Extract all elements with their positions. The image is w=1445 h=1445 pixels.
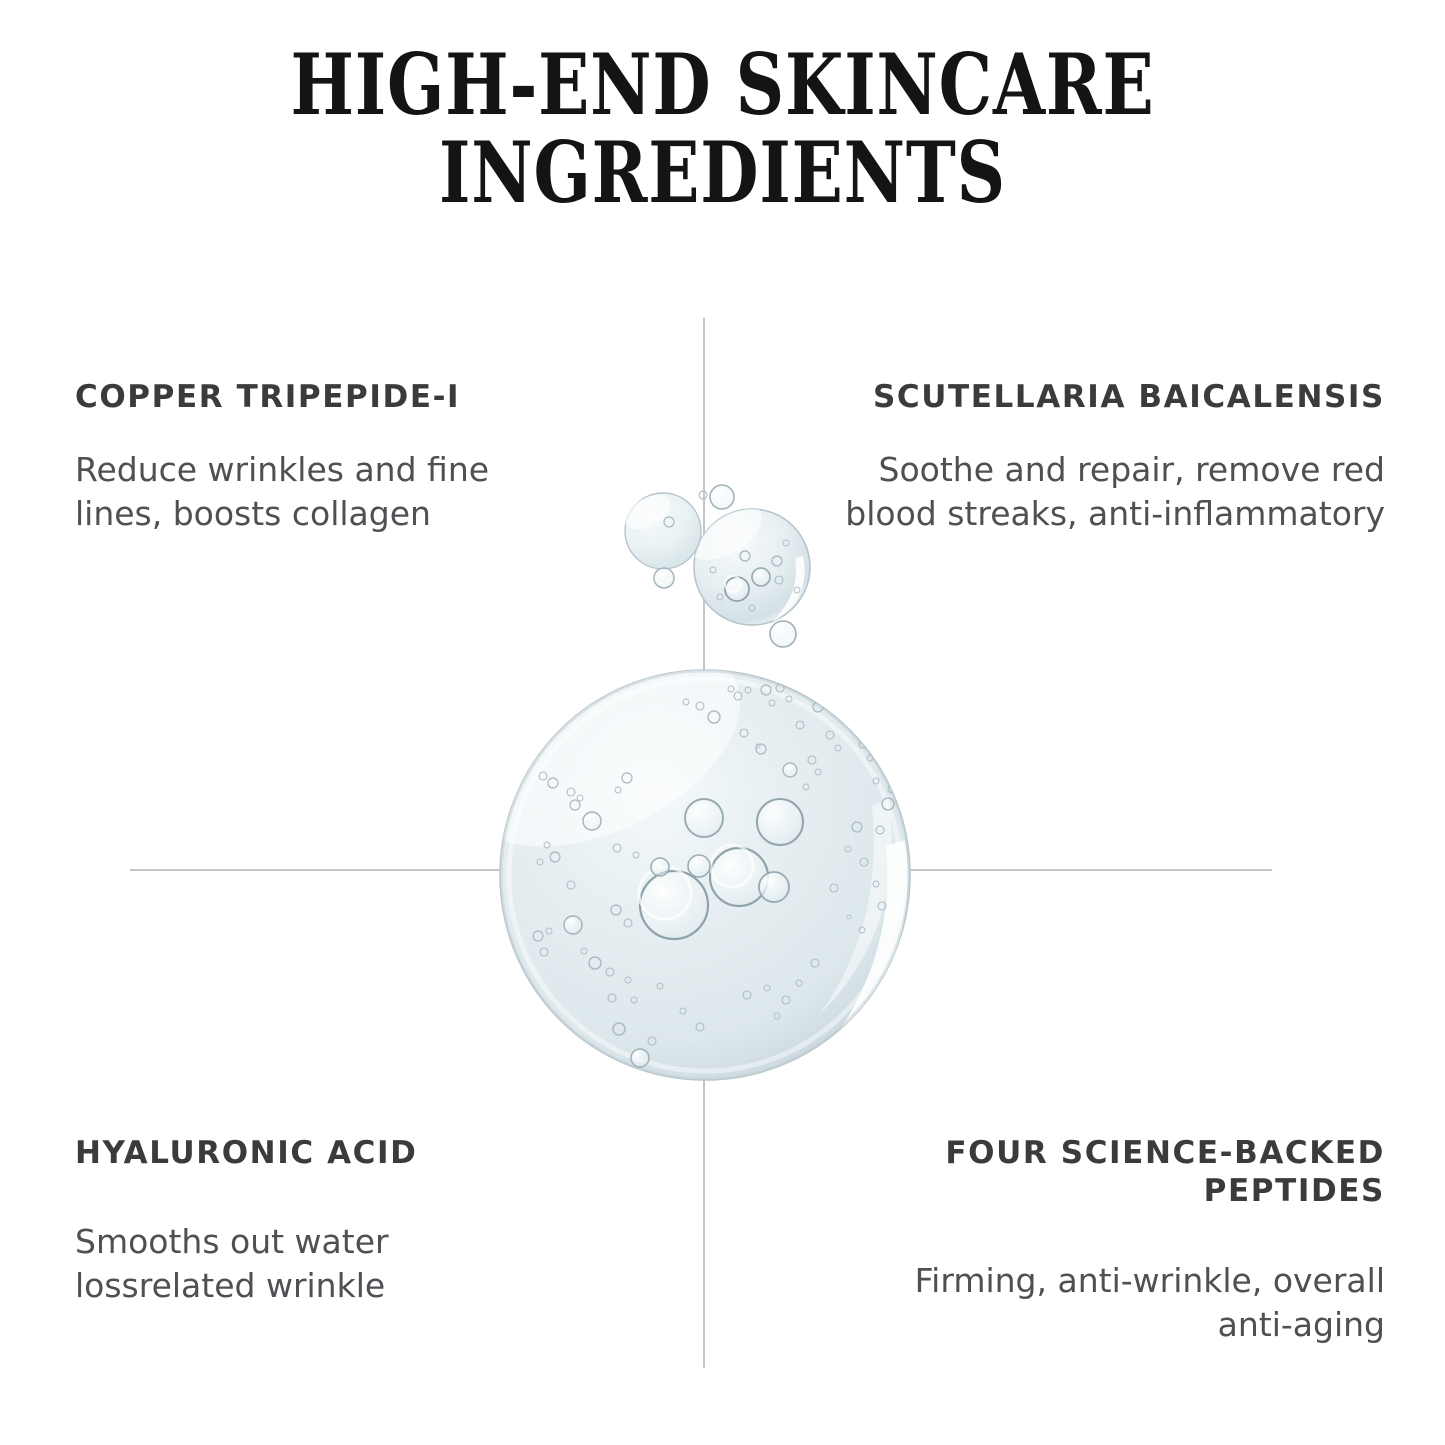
quadrant-top-left: COPPER TRIPEPIDE-I Reduce wrinkles and f… — [75, 378, 545, 536]
quadrant-bottom-right-heading: FOUR SCIENCE-BACKED PEPTIDES — [865, 1134, 1385, 1211]
quadrant-bottom-left-heading: HYALURONIC ACID — [75, 1134, 525, 1172]
serum-droplet-medium — [675, 490, 810, 625]
serum-droplet-small — [619, 488, 701, 569]
page-title-line-1: HIGH-END SKINCARE — [145, 44, 1301, 126]
quadrant-bottom-right-body: Firming, anti-wrinkle, overall anti-agin… — [865, 1259, 1385, 1347]
quadrant-top-left-body: Reduce wrinkles and fine lines, boosts c… — [75, 448, 545, 536]
quadrant-top-right-body: Soothe and repair, remove red blood stre… — [795, 448, 1385, 536]
quadrant-top-right-heading: SCUTELLARIA BAICALENSIS — [795, 378, 1385, 416]
serum-droplet-large — [427, 602, 910, 1080]
satellite-bubbles — [654, 485, 796, 647]
horizontal-divider-line — [130, 869, 1272, 871]
quadrant-top-right: SCUTELLARIA BAICALENSIS Soothe and repai… — [795, 378, 1385, 536]
page-title-line-2: INGREDIENTS — [145, 132, 1301, 214]
quadrant-bottom-left-body: Smooths out water lossrelated wrinkle — [75, 1220, 525, 1308]
quadrant-bottom-left: HYALURONIC ACID Smooths out water lossre… — [75, 1134, 525, 1308]
page-title: HIGH-END SKINCARE INGREDIENTS — [0, 44, 1445, 215]
vertical-divider-line — [703, 318, 705, 1368]
quadrant-top-left-heading: COPPER TRIPEPIDE-I — [75, 378, 545, 416]
quadrant-bottom-right: FOUR SCIENCE-BACKED PEPTIDES Firming, an… — [865, 1134, 1385, 1347]
